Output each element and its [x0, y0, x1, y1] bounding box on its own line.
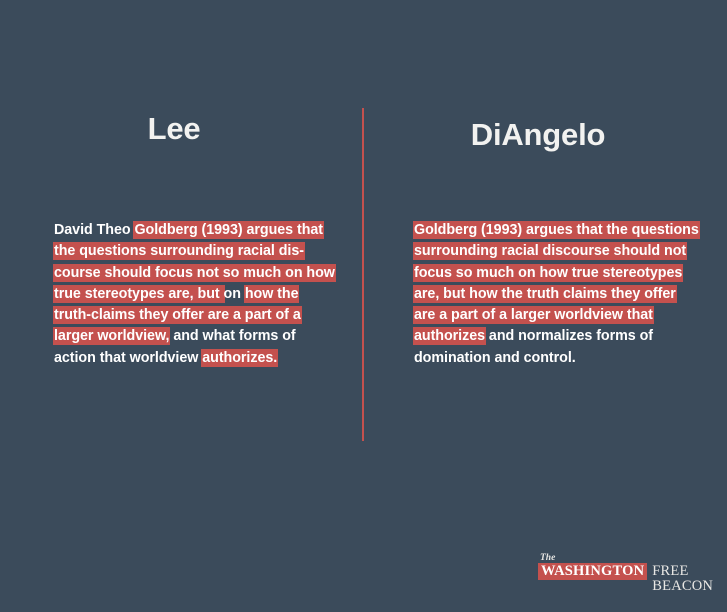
highlighted-text-run: authorizes.: [202, 350, 277, 366]
passage-lee: David Theo Goldberg (1993) argues that t…: [54, 220, 339, 369]
washington-free-beacon-logo: The WASHINGTON FREE BEACON: [538, 553, 718, 585]
logo-washington-badge: WASHINGTON: [538, 563, 647, 580]
passage-diangelo: Goldberg (1993) argues that the question…: [414, 220, 699, 369]
plain-text-run: on: [224, 286, 245, 302]
column-heading-lee: Lee: [74, 113, 274, 144]
highlighted-text-run: Goldberg (1993) argues that the question…: [414, 222, 699, 344]
plain-text-run: David Theo: [54, 222, 134, 238]
logo-the-text: The: [540, 553, 555, 563]
logo-free-beacon-text: FREE BEACON: [647, 563, 718, 580]
slide-canvas: Lee DiAngelo David Theo Goldberg (1993) …: [0, 0, 727, 612]
column-divider: [362, 108, 364, 441]
column-heading-diangelo: DiAngelo: [438, 119, 638, 150]
logo-wordmark-row: WASHINGTON FREE BEACON: [538, 563, 718, 580]
